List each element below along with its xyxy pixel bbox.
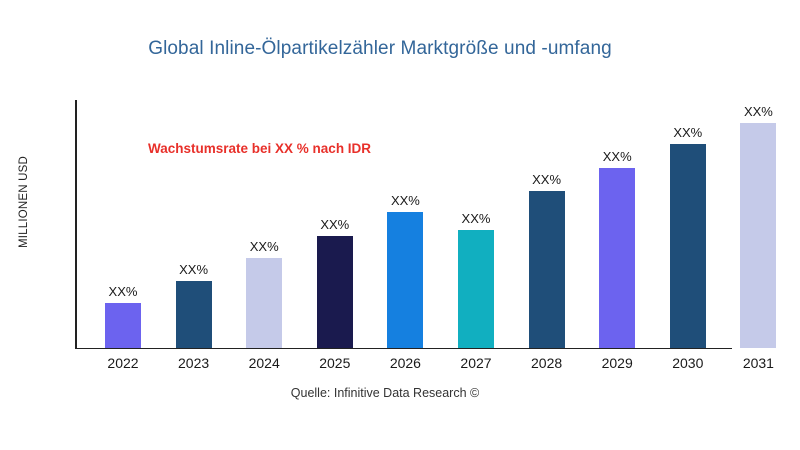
bar-value-label-2027: XX% [462,211,491,226]
bar-group: XX% [458,100,494,348]
bar-2022[interactable] [105,303,141,348]
bar-2025[interactable] [317,236,353,348]
x-tick-2028: 2028 [517,355,577,371]
bar-value-label-2022: XX% [109,284,138,299]
bar-2028[interactable] [529,191,565,348]
bar-group: XX% [176,100,212,348]
chart-container: Global Inline-Ölpartikelzähler Marktgröß… [0,0,800,450]
bar-2031[interactable] [740,123,776,348]
x-tick-2031: 2031 [728,355,788,371]
bar-2027[interactable] [458,230,494,348]
bar-value-label-2029: XX% [603,149,632,164]
bar-group: XX% [105,100,141,348]
growth-rate-annotation: Wachstumsrate bei XX % nach IDR [148,141,371,156]
bar-2026[interactable] [387,212,423,348]
x-tick-2025: 2025 [305,355,365,371]
plot-area: XX%XX%XX%XX%XX%XX%XX%XX%XX%XX% [75,100,731,348]
bar-group: XX% [599,100,635,348]
bar-value-label-2028: XX% [532,172,561,187]
x-tick-2029: 2029 [587,355,647,371]
y-axis-label: MILLIONEN USD [18,102,30,302]
bar-group: XX% [246,100,282,348]
bar-2030[interactable] [670,144,706,348]
bar-group: XX% [529,100,565,348]
bar-value-label-2031: XX% [744,104,773,119]
x-tick-2022: 2022 [93,355,153,371]
chart-title: Global Inline-Ölpartikelzähler Marktgröß… [0,38,760,60]
bar-group: XX% [317,100,353,348]
bar-value-label-2030: XX% [673,125,702,140]
x-tick-2023: 2023 [164,355,224,371]
bar-value-label-2025: XX% [320,217,349,232]
bar-value-label-2023: XX% [179,262,208,277]
bar-group: XX% [740,100,776,348]
bar-2024[interactable] [246,258,282,348]
bar-value-label-2024: XX% [250,239,279,254]
bar-2023[interactable] [176,281,212,348]
source-note: Quelle: Infinitive Data Research © [0,386,770,400]
bar-group: XX% [387,100,423,348]
x-tick-2024: 2024 [234,355,294,371]
bar-value-label-2026: XX% [391,193,420,208]
bar-2029[interactable] [599,168,635,348]
x-tick-2027: 2027 [446,355,506,371]
bar-group: XX% [670,100,706,348]
x-tick-2030: 2030 [658,355,718,371]
x-tick-2026: 2026 [375,355,435,371]
